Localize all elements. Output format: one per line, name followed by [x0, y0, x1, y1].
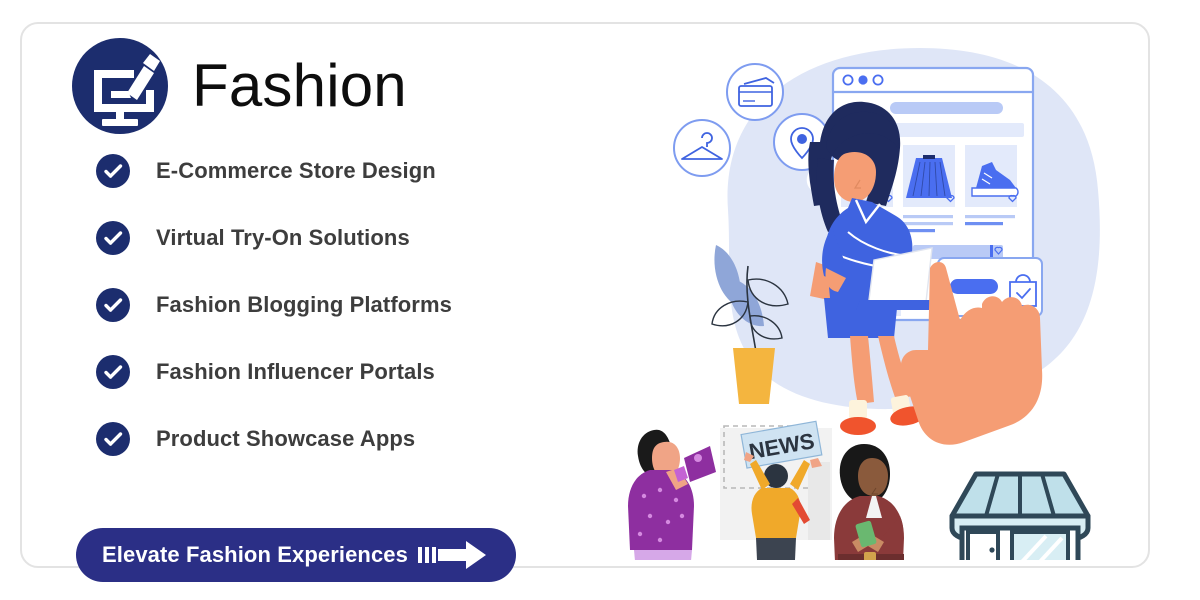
- page-title: Fashion: [192, 56, 407, 116]
- elevate-fashion-experiences-button[interactable]: Elevate Fashion Experiences: [76, 528, 516, 582]
- check-circle-icon: [96, 422, 130, 456]
- list-item-label: Fashion Blogging Platforms: [156, 292, 452, 318]
- brand-header: Fashion: [72, 38, 407, 134]
- storefront-icon: [952, 474, 1088, 560]
- list-item: Product Showcase Apps: [96, 422, 556, 456]
- credit-card-icon: [727, 64, 783, 120]
- list-item-label: Product Showcase Apps: [156, 426, 415, 452]
- check-circle-icon: [96, 154, 130, 188]
- woman-megaphone-icon: [628, 430, 716, 560]
- list-item-label: Virtual Try-On Solutions: [156, 225, 410, 251]
- left-content: Fashion E-Commerce Store Design Virtual …: [72, 36, 542, 556]
- feature-list: E-Commerce Store Design Virtual Try-On S…: [96, 154, 556, 489]
- arrow-right-motion-icon: [418, 538, 490, 572]
- cta-label: Elevate Fashion Experiences: [102, 542, 408, 568]
- list-item-label: E-Commerce Store Design: [156, 158, 436, 184]
- monitor-pen-icon: [72, 38, 168, 134]
- woman-phone-icon: [834, 444, 904, 560]
- clothes-hanger-icon: [674, 120, 730, 176]
- list-item: Virtual Try-On Solutions: [96, 221, 556, 255]
- list-item: E-Commerce Store Design: [96, 154, 556, 188]
- list-item-label: Fashion Influencer Portals: [156, 359, 435, 385]
- promo-banner: Fashion E-Commerce Store Design Virtual …: [0, 0, 1200, 600]
- check-circle-icon: [96, 355, 130, 389]
- check-circle-icon: [96, 288, 130, 322]
- man-news-sign-icon: NEWS: [720, 421, 832, 560]
- list-item: Fashion Influencer Portals: [96, 355, 556, 389]
- list-item: Fashion Blogging Platforms: [96, 288, 556, 322]
- check-circle-icon: [96, 221, 130, 255]
- fashion-ecommerce-illustration: NEWS: [620, 30, 1130, 560]
